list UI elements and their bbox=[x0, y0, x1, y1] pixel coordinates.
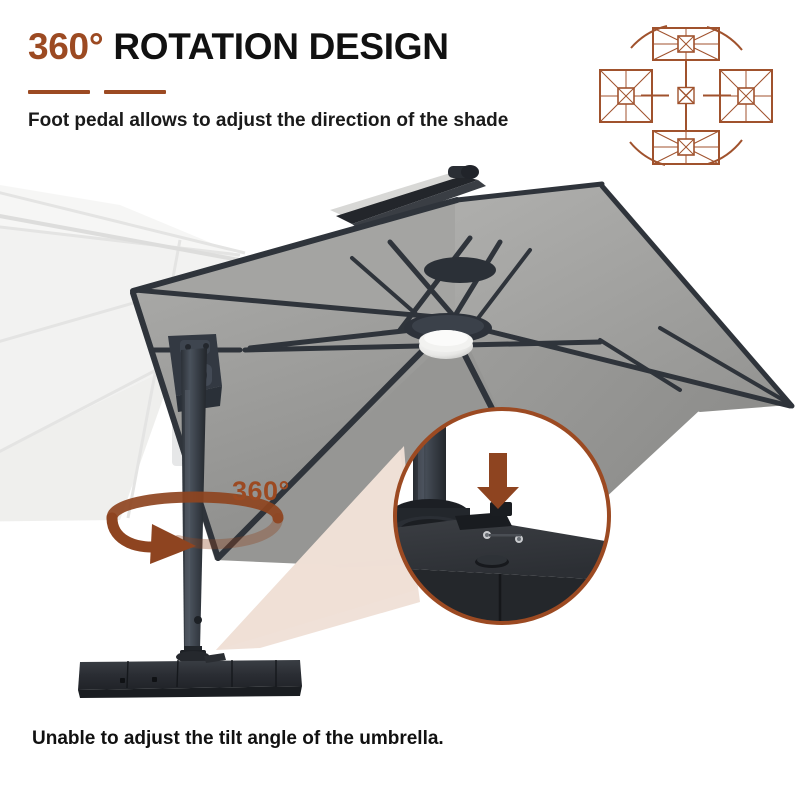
page-title: 360° ROTATION DESIGN bbox=[28, 28, 449, 65]
footer-caption: Unable to adjust the tilt angle of the u… bbox=[32, 728, 444, 750]
umbrella-position-left-icon bbox=[600, 70, 652, 122]
title-divider bbox=[28, 90, 166, 94]
product-illustration bbox=[0, 150, 800, 710]
page-title-rest: ROTATION DESIGN bbox=[113, 26, 448, 67]
page-subtitle: Foot pedal allows to adjust the directio… bbox=[28, 110, 508, 132]
product-feature-image: 360° ROTATION DESIGN Foot pedal allows t… bbox=[0, 0, 800, 800]
title-divider-segment-1 bbox=[28, 90, 90, 94]
page-title-accent: 360° bbox=[28, 26, 103, 67]
title-divider-segment-2 bbox=[104, 90, 166, 94]
umbrella-position-right-icon bbox=[720, 70, 772, 122]
led-light-icon bbox=[419, 330, 473, 359]
center-hub-icon bbox=[678, 88, 694, 104]
rotation-degree-label: 360° bbox=[232, 476, 290, 507]
umbrella-position-top-icon bbox=[653, 28, 719, 60]
